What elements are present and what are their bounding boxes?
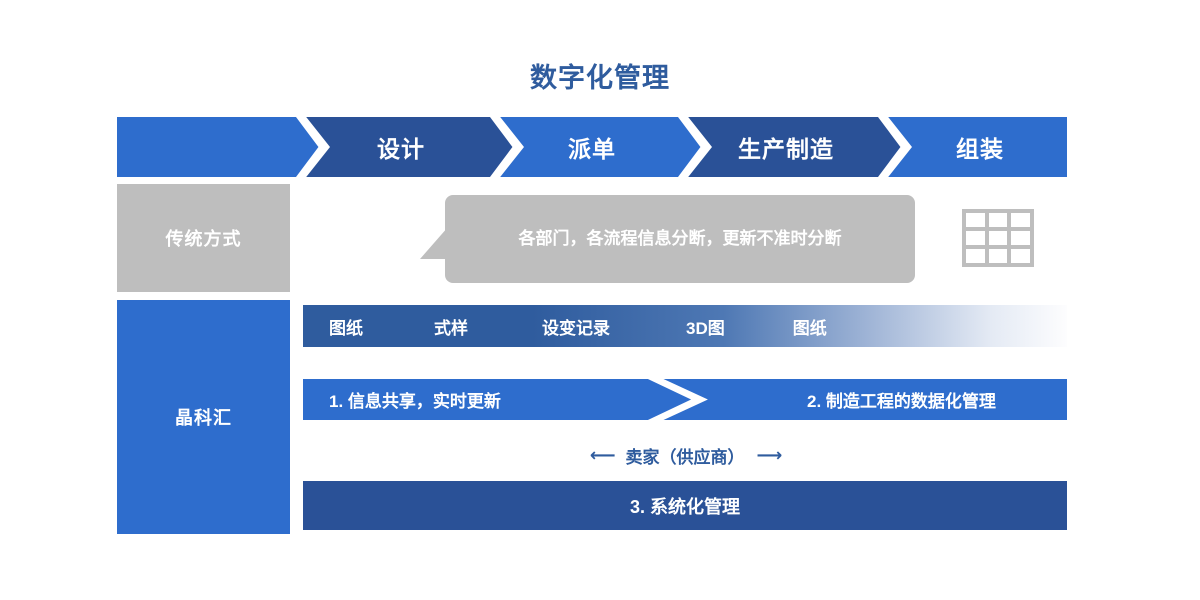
benefit-label: 2. 制造工程的数据化管理	[807, 387, 996, 412]
seller-annotation: ⟵ 卖家（供应商） ⟶	[303, 437, 1067, 473]
grid-cell	[1011, 249, 1030, 263]
grid-cell	[966, 231, 985, 245]
grid-cell	[989, 231, 1008, 245]
process-step-0[interactable]	[117, 117, 297, 177]
callout-text: 各部门，各流程信息分断，更新不准时分断	[445, 195, 915, 283]
row-legend-traditional: 传统方式	[117, 184, 290, 292]
table-grid-icon	[962, 209, 1034, 267]
benefit-item-2[interactable]: 2. 制造工程的数据化管理	[708, 379, 1067, 420]
benefit-label: 1. 信息共享，实时更新	[329, 387, 501, 412]
process-step-label: 派单	[554, 130, 616, 164]
process-step-label: 生产制造	[724, 130, 834, 164]
system-management-label: 3. 系统化管理	[630, 493, 740, 519]
seller-label: 卖家（供应商）	[626, 443, 745, 468]
row-legend-label: 晶科汇	[175, 404, 232, 430]
grid-cell	[1011, 213, 1030, 227]
benefit-arrow-bar: 1. 信息共享，实时更新 2. 制造工程的数据化管理	[303, 379, 1067, 420]
benefit-item-1[interactable]: 1. 信息共享，实时更新	[303, 379, 708, 420]
page-title: 数字化管理	[0, 56, 1200, 95]
row-legend-jinkehui: 晶科汇	[117, 300, 290, 534]
process-step-manufacture[interactable]: 生产制造	[679, 117, 879, 177]
grid-cell	[966, 213, 985, 227]
document-item-1: 式样	[434, 314, 468, 339]
process-step-label: 组装	[942, 130, 1004, 164]
document-item-0: 图纸	[329, 314, 363, 339]
row-legend-label: 传统方式	[166, 225, 242, 251]
diagram-canvas: 数字化管理 设计 派单 生产制造 组装 传统方式 各部门，各流程信息分断，更新不…	[0, 0, 1200, 600]
grid-cell	[966, 249, 985, 263]
process-chevron-row: 设计 派单 生产制造 组装	[117, 117, 1067, 177]
grid-cell	[1011, 231, 1030, 245]
arrow-left-icon: ⟵	[590, 445, 614, 466]
traditional-callout: 各部门，各流程信息分断，更新不准时分断	[420, 195, 915, 283]
document-item-3: 3D图	[686, 314, 725, 339]
arrow-right-icon: ⟶	[757, 445, 781, 466]
process-step-assembly[interactable]: 组装	[879, 117, 1067, 177]
grid-cell	[989, 213, 1008, 227]
document-item-4: 图纸	[793, 314, 827, 339]
process-step-design[interactable]: 设计	[297, 117, 491, 177]
process-step-dispatch[interactable]: 派单	[491, 117, 679, 177]
system-management-bar[interactable]: 3. 系统化管理	[303, 481, 1067, 530]
process-step-label: 设计	[363, 130, 425, 164]
callout-tail-icon	[420, 227, 448, 259]
grid-cell	[989, 249, 1008, 263]
document-gradient-bar: 图纸 式样 设变记录 3D图 图纸	[303, 305, 1067, 347]
document-item-2: 设变记录	[542, 314, 610, 339]
